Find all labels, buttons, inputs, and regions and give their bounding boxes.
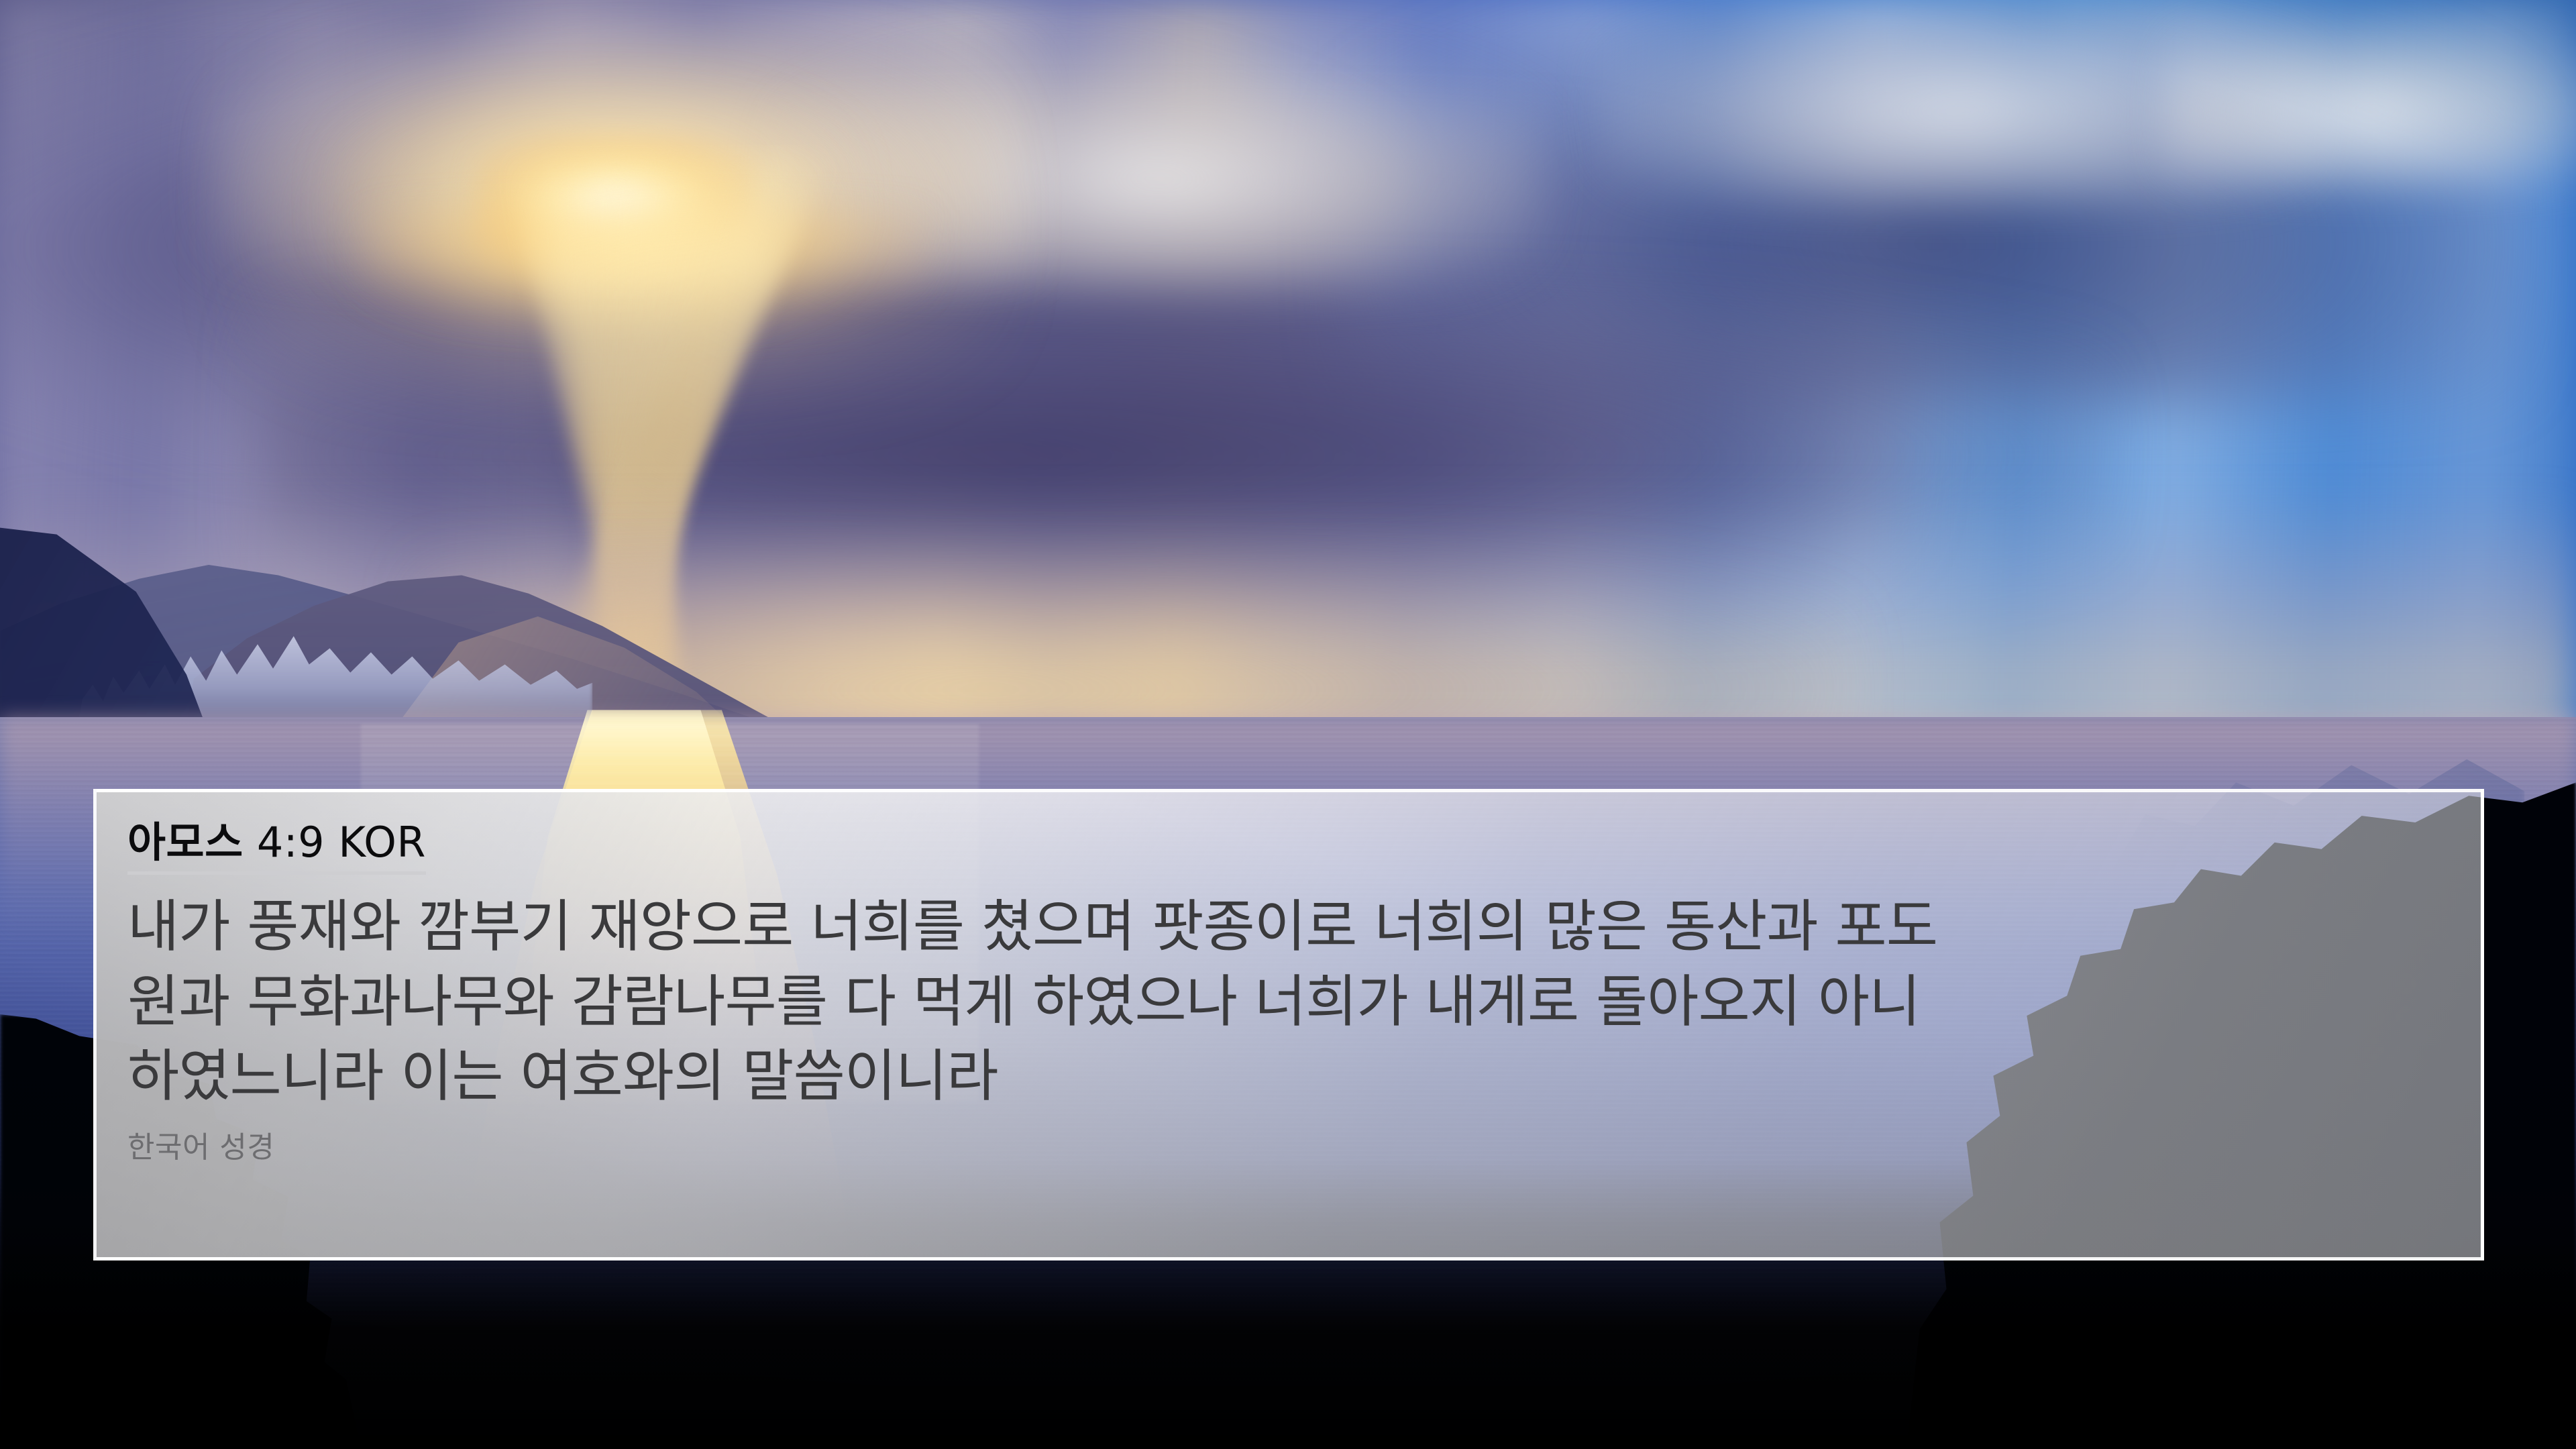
verse-text-line-3: 하였느니라 이는 여호와의 말씀이니라 — [127, 1039, 2450, 1114]
verse-card: 아모스 4:9 KOR 내가 풍재와 깜부기 재앙으로 너희를 쳤으며 팟종이로… — [93, 789, 2484, 1260]
verse-reference-location: 4:9 KOR — [257, 818, 426, 867]
verse-text-line-2: 원과 무화과나무와 감람나무를 다 먹게 하였으나 너희가 내게로 돌아오지 아… — [127, 965, 2450, 1040]
verse-text: 내가 풍재와 깜부기 재앙으로 너희를 쳤으며 팟종이로 너희의 많은 동산과 … — [127, 890, 2450, 1114]
verse-text-line-1: 내가 풍재와 깜부기 재앙으로 너희를 쳤으며 팟종이로 너희의 많은 동산과 … — [127, 890, 2450, 965]
bible-translation-label: 한국어 성경 — [127, 1132, 2450, 1164]
verse-reference: 아모스 4:9 KOR — [127, 822, 426, 875]
verse-card-content: 아모스 4:9 KOR 내가 풍재와 깜부기 재앙으로 너희를 쳤으며 팟종이로… — [127, 812, 2450, 1165]
verse-reference-book: 아모스 — [127, 818, 244, 867]
verse-image-canvas: 아모스 4:9 KOR 내가 풍재와 깜부기 재앙으로 너희를 쳤으며 팟종이로… — [0, 0, 2576, 1449]
